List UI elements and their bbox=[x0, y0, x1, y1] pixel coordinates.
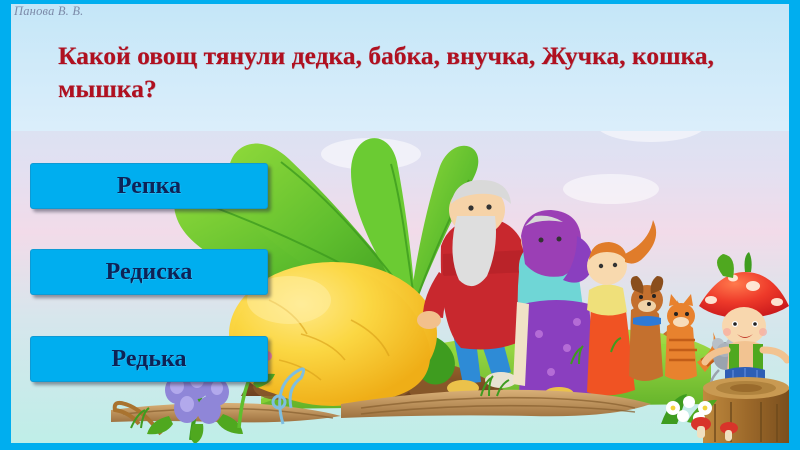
slide-canvas: Панова В. В. Какой овощ тянули дедка, ба… bbox=[11, 4, 789, 443]
answer-label: Репка bbox=[117, 173, 181, 200]
author-credit: Панова В. В. bbox=[14, 4, 84, 19]
answer-label: Редиска bbox=[106, 259, 193, 286]
tree-stump bbox=[703, 377, 789, 443]
answer-button-repka[interactable]: Репка bbox=[30, 163, 268, 209]
slide-frame: Панова В. В. Какой овощ тянули дедка, ба… bbox=[0, 0, 800, 450]
answer-button-rediska[interactable]: Редиска bbox=[30, 249, 268, 295]
slide-header: Панова В. В. Какой овощ тянули дедка, ба… bbox=[11, 4, 789, 131]
answer-label: Редька bbox=[112, 346, 187, 373]
question-title: Какой овощ тянули дедка, бабка, внучка, … bbox=[58, 39, 758, 105]
answer-button-redka[interactable]: Редька bbox=[30, 336, 268, 382]
